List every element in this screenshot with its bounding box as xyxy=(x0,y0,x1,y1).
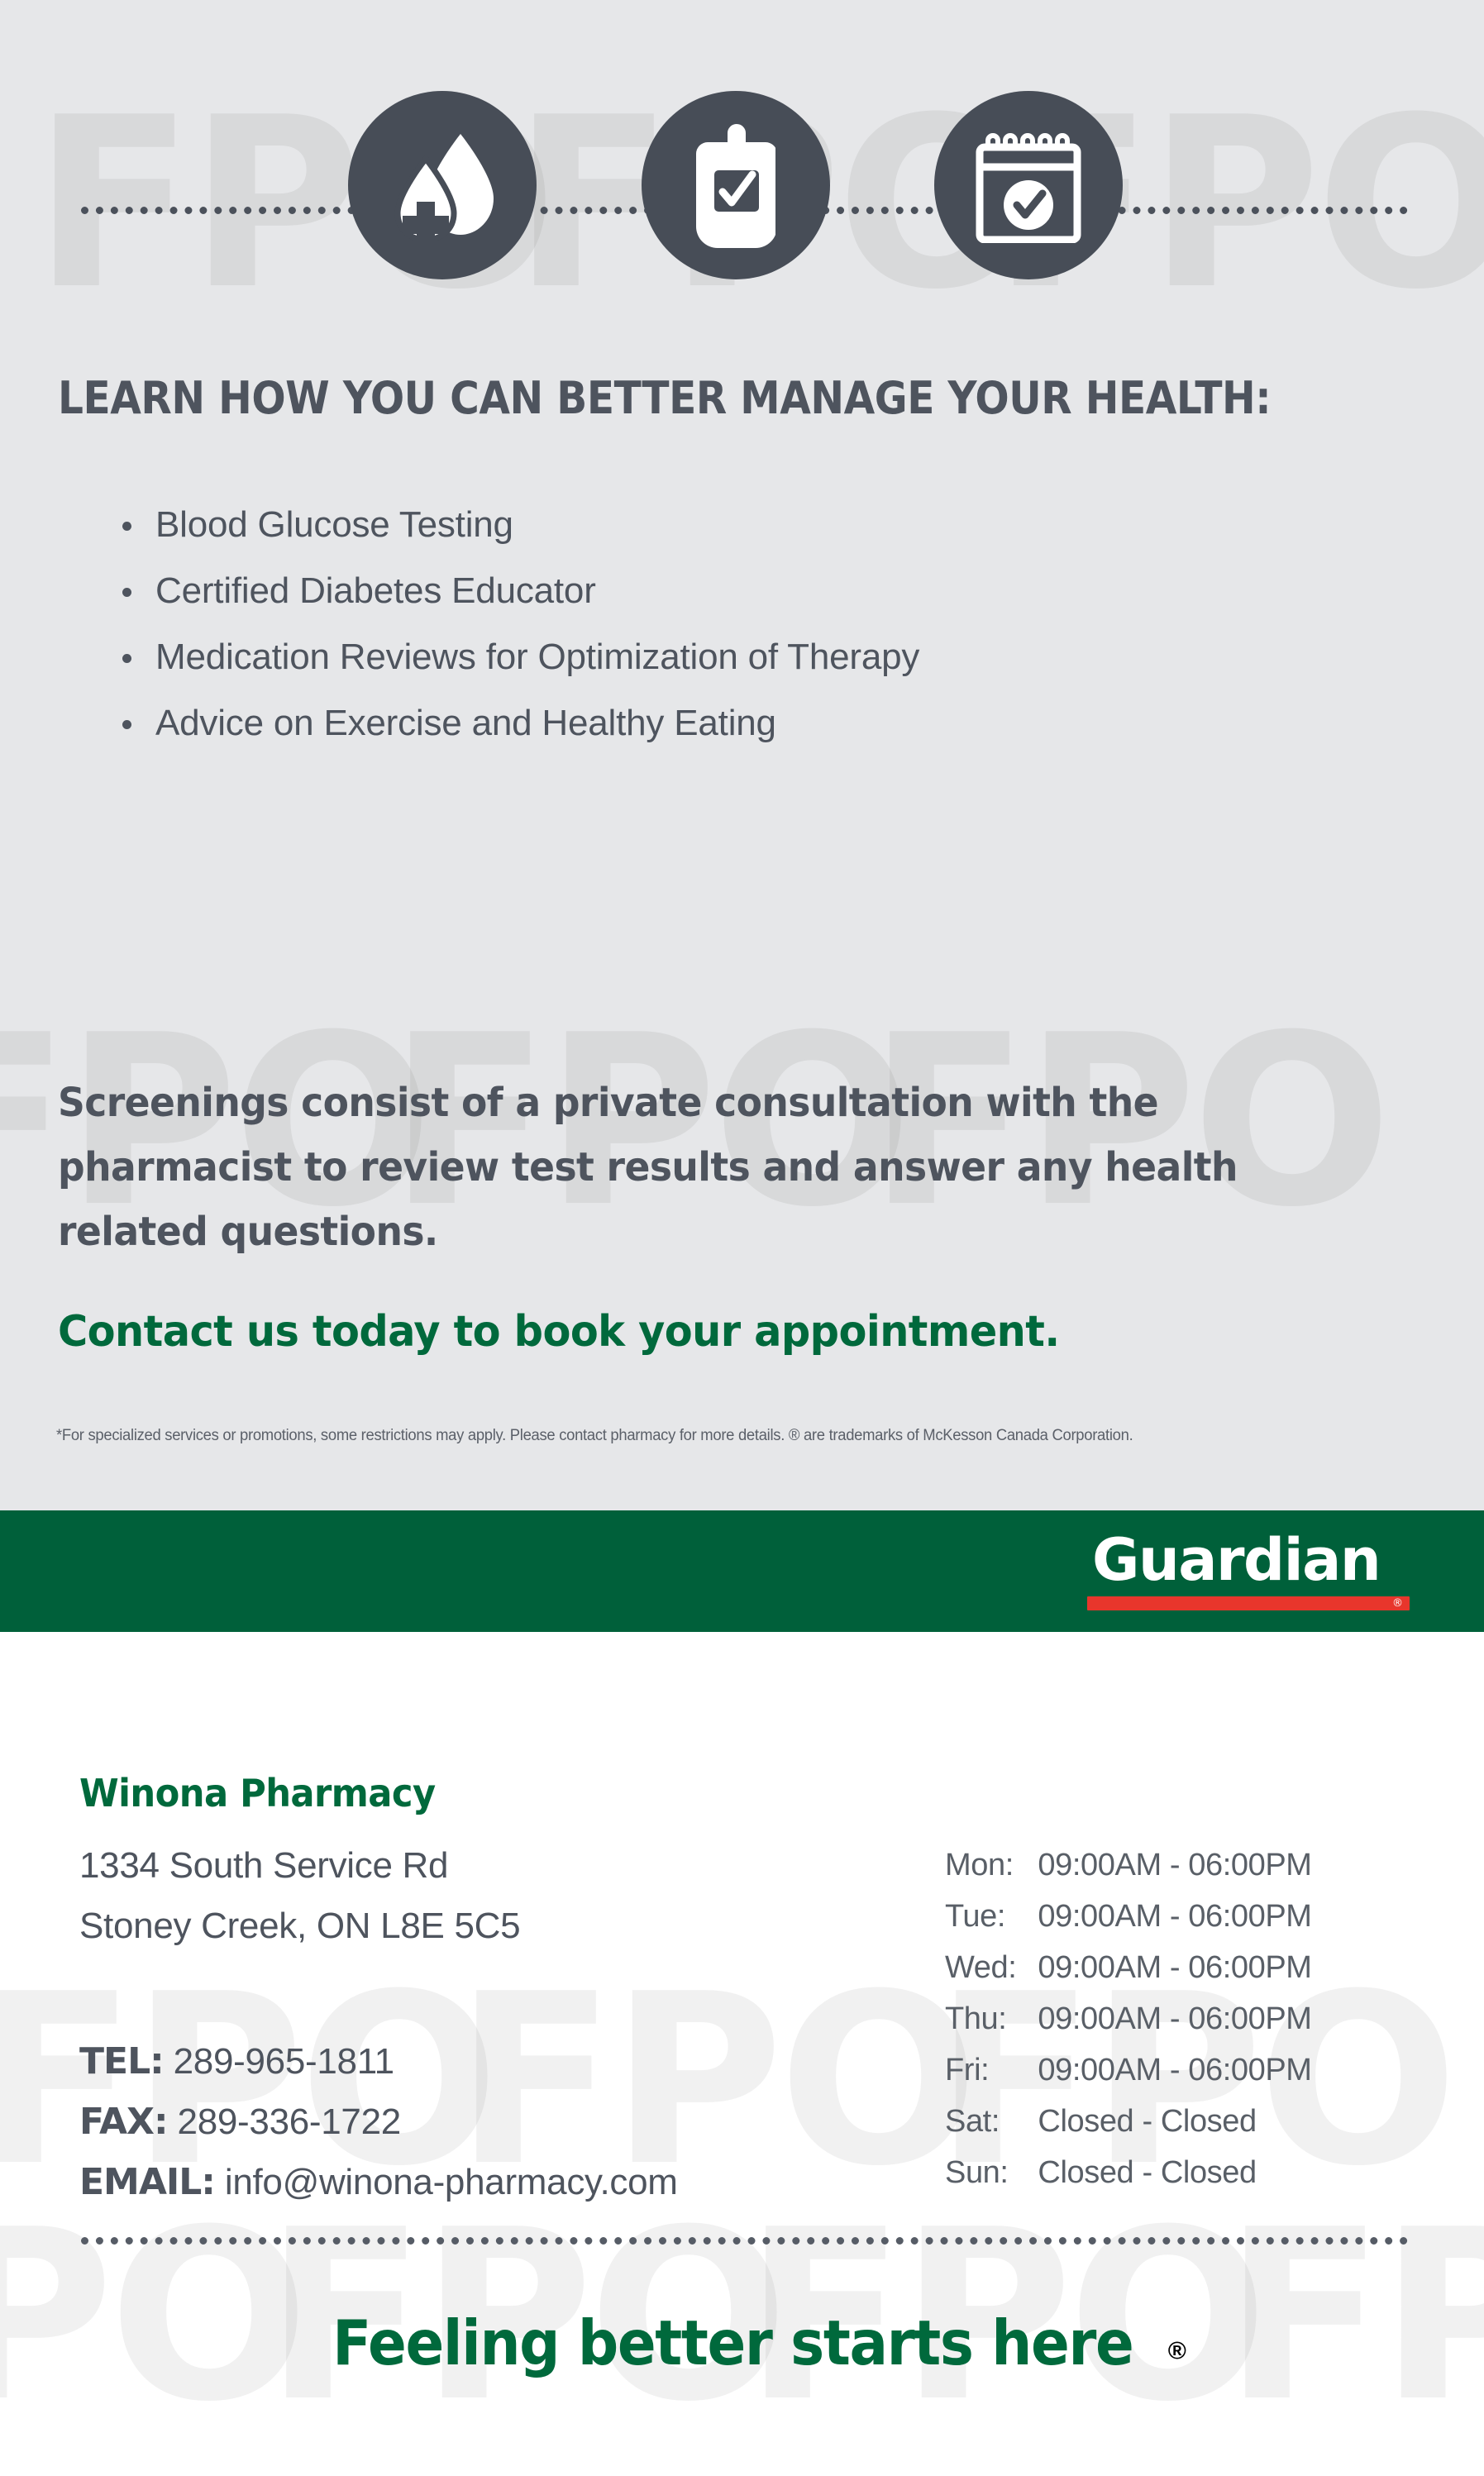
service-icon-row xyxy=(0,91,1484,285)
table-row: Tue: 09:00AM - 06:00PM xyxy=(945,1891,1312,1942)
list-item: Medication Reviews for Optimization of T… xyxy=(107,624,1348,690)
address-line-1: 1334 South Service Rd xyxy=(79,1835,520,1896)
table-row: Sat: Closed - Closed xyxy=(945,2096,1312,2147)
page-title: LEARN HOW YOU CAN BETTER MANAGE YOUR HEA… xyxy=(58,372,1293,424)
contact-cta-text: Contact us today to book your appointmen… xyxy=(58,1305,1330,1359)
store-contact-block: TEL: 289-965-1811 FAX: 289-336-1722 EMAI… xyxy=(79,2031,678,2212)
brand-bar: Guardian ® xyxy=(0,1510,1484,1632)
footer-dotted-divider xyxy=(81,2237,1408,2245)
fax-value[interactable]: 289-336-1722 xyxy=(178,2101,401,2142)
hours-day: Mon: xyxy=(945,1839,1038,1891)
store-address: 1334 South Service Rd Stoney Creek, ON L… xyxy=(79,1835,520,1956)
table-row: Thu: 09:00AM - 06:00PM xyxy=(945,1993,1312,2044)
telephone-row: TEL: 289-965-1811 xyxy=(79,2031,678,2092)
hours-day: Tue: xyxy=(945,1891,1038,1942)
list-item: Advice on Exercise and Healthy Eating xyxy=(107,690,1348,756)
fax-row: FAX: 289-336-1722 xyxy=(79,2092,678,2152)
services-list: Blood Glucose Testing Certified Diabetes… xyxy=(107,492,1348,756)
hours-time: 09:00AM - 06:00PM xyxy=(1038,1942,1311,1993)
guardian-logo: Guardian ® xyxy=(1087,1525,1410,1618)
email-label: EMAIL: xyxy=(79,2161,215,2203)
blood-drop-plus-icon xyxy=(348,91,537,279)
list-item: Blood Glucose Testing xyxy=(107,492,1348,558)
address-line-2: Stoney Creek, ON L8E 5C5 xyxy=(79,1896,520,1956)
telephone-label: TEL: xyxy=(79,2040,164,2082)
glucose-meter-check-icon xyxy=(642,91,830,279)
hours-time: 09:00AM - 06:00PM xyxy=(1038,2044,1311,2096)
brand-tagline: Feeling better starts here® xyxy=(0,2307,1484,2379)
table-row: Fri: 09:00AM - 06:00PM xyxy=(945,2044,1312,2096)
email-value[interactable]: info@winona-pharmacy.com xyxy=(225,2162,678,2202)
hours-time: Closed - Closed xyxy=(1038,2147,1311,2198)
table-row: Sun: Closed - Closed xyxy=(945,2147,1312,2198)
disclaimer-text: *For specialized services or promotions,… xyxy=(56,1424,1387,1448)
guardian-wordmark: Guardian xyxy=(1087,1525,1410,1595)
table-row: Mon: 09:00AM - 06:00PM xyxy=(945,1839,1312,1891)
store-hours-table: Mon: 09:00AM - 06:00PM Tue: 09:00AM - 06… xyxy=(945,1839,1312,2198)
hours-day: Sun: xyxy=(945,2147,1038,2198)
list-item: Certified Diabetes Educator xyxy=(107,558,1348,624)
fax-label: FAX: xyxy=(79,2101,168,2143)
hours-day: Wed: xyxy=(945,1942,1038,1993)
hours-time: 09:00AM - 06:00PM xyxy=(1038,1993,1311,2044)
hours-day: Thu: xyxy=(945,1993,1038,2044)
hours-time: 09:00AM - 06:00PM xyxy=(1038,1839,1311,1891)
telephone-value[interactable]: 289-965-1811 xyxy=(174,2041,394,2082)
email-row: EMAIL: info@winona-pharmacy.com xyxy=(79,2152,678,2212)
store-name: Winona Pharmacy xyxy=(79,1771,436,1815)
hours-day: Sat: xyxy=(945,2096,1038,2147)
calendar-check-icon xyxy=(934,91,1123,279)
screenings-description: Screenings consist of a private consulta… xyxy=(58,1071,1330,1264)
hours-time: Closed - Closed xyxy=(1038,2096,1311,2147)
tagline-text: Feeling better starts here xyxy=(332,2307,1133,2379)
registered-trademark-icon: ® xyxy=(1392,1596,1403,1610)
guardian-logo-underline: ® xyxy=(1087,1596,1410,1610)
table-row: Wed: 09:00AM - 06:00PM xyxy=(945,1942,1312,1993)
hours-time: 09:00AM - 06:00PM xyxy=(1038,1891,1311,1942)
hours-day: Fri: xyxy=(945,2044,1038,2096)
registered-trademark-icon: ® xyxy=(1168,2338,1186,2365)
